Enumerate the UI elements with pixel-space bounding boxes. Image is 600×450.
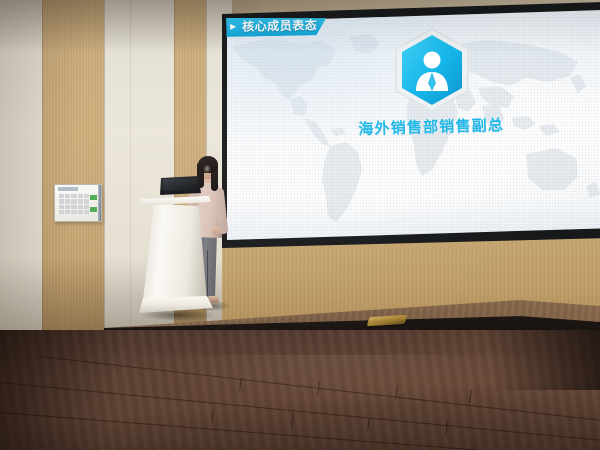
slide-section-banner: 核心成员表态 [226,16,326,37]
lectern-body-shading [143,204,207,302]
laptop[interactable] [160,176,201,198]
control-panel-edge [98,185,101,221]
lectern-top-surface [139,196,211,206]
lectern [139,196,211,314]
control-panel-button[interactable] [71,194,76,198]
businessperson-icon [392,27,472,113]
laptop-screen-glare [163,179,196,191]
lectern-base [139,296,213,313]
floor-shadow-left [0,330,130,450]
control-panel-label [58,187,78,191]
presentation-hall-photo: 核心成员表态 海外销售部销售副总 [0,0,600,450]
control-panel-button[interactable] [78,210,83,214]
control-panel-button[interactable] [84,199,89,203]
control-panel-button-grid[interactable] [59,194,89,214]
control-panel-button[interactable] [59,199,64,203]
slide-section-banner-label: 核心成员表态 [242,18,317,33]
control-panel-button[interactable] [65,205,70,209]
control-panel-button[interactable] [78,199,83,203]
control-panel-button[interactable] [84,194,89,198]
control-panel-button[interactable] [65,194,70,198]
control-panel-button[interactable] [71,210,76,214]
control-panel-button[interactable] [78,205,83,209]
presenter-face [203,165,212,176]
play-arrow-icon [230,24,236,30]
control-panel-button[interactable] [84,210,89,214]
control-panel-led-icon [90,207,97,212]
presenter-hand [212,226,220,235]
control-panel-button[interactable] [84,205,89,209]
wall-control-panel[interactable] [54,184,102,222]
floor-reflection [120,355,540,425]
control-panel-button[interactable] [59,210,64,214]
control-panel-button[interactable] [71,205,76,209]
floor-shadow-right [480,330,600,390]
control-panel-button[interactable] [78,194,83,198]
control-panel-button[interactable] [71,199,76,203]
control-panel-button[interactable] [65,199,70,203]
slide-title: 海外销售部销售副总 [358,114,504,139]
control-panel-button[interactable] [59,205,64,209]
control-panel-led-icon [90,195,97,200]
slide-badge [392,27,472,113]
control-panel-button[interactable] [59,194,64,198]
control-panel-button[interactable] [65,210,70,214]
